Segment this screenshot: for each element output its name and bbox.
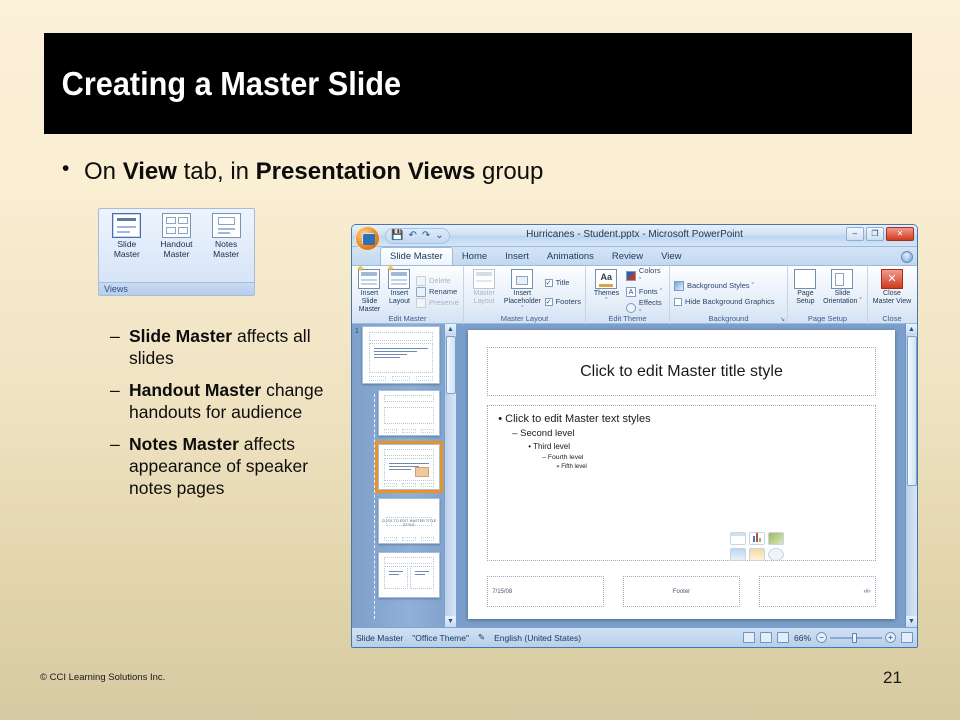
slide-number: 21: [883, 668, 902, 688]
themes-icon: Aa: [595, 269, 617, 289]
ribbon-group-background: Background Styles ˇ Hide Background Grap…: [670, 266, 788, 324]
content-placeholder-icons[interactable]: [730, 532, 784, 561]
thumbnail-scroll-thumb[interactable]: [446, 336, 456, 394]
rename-label: Rename: [429, 287, 457, 297]
slide-title-band: Creating a Master Slide: [44, 33, 912, 134]
stage-scroll-thumb[interactable]: [907, 336, 917, 486]
thumb-footer-right: [421, 537, 434, 541]
master-slide-number: 1: [355, 328, 359, 335]
close-master-view-icon: ✕: [881, 269, 903, 289]
preserve-master-button[interactable]: Preserve: [416, 298, 459, 308]
page-setup-label-1: Page: [792, 290, 819, 298]
insert-clipart-icon[interactable]: [749, 548, 765, 561]
views-ribbon-group-image: Slide Master Handout Master Notes Master…: [98, 208, 255, 296]
delete-icon: [416, 276, 426, 286]
page-setup-group-title: Page Setup: [788, 314, 867, 324]
fonts-label: Fonts ˇ: [639, 287, 662, 297]
zoom-slider[interactable]: − +: [816, 632, 896, 643]
hide-background-graphics-label: Hide Background Graphics: [685, 297, 775, 307]
notes-master-icon: [212, 213, 241, 238]
preserve-icon: [416, 298, 426, 308]
title-checkbox-row[interactable]: ✓ Title: [545, 278, 581, 288]
thumb-body-ph: [369, 343, 433, 373]
sub-bullet-handout-master: – Handout Master change handouts for aud…: [110, 379, 348, 423]
window-title-bar: 💾 ↶ ↷ ⌄ Hurricanes - Student.pptx - Micr…: [352, 225, 917, 247]
thumb-footer-left: [384, 537, 397, 541]
footers-checkbox[interactable]: ✓: [545, 298, 553, 306]
close-button[interactable]: ✕: [886, 227, 914, 241]
master-layout-checkboxes: ✓ Title ✓ Footers: [545, 268, 581, 314]
ribbon: ✦ Insert Slide Master ✦ Insert Layout: [352, 266, 917, 324]
stage-scroll-up-icon[interactable]: ▲: [906, 324, 917, 335]
slide-orientation-icon: [831, 269, 853, 289]
ribbon-group-close: ✕ Close Master View Close: [868, 266, 916, 324]
master-slide-canvas[interactable]: Click to edit Master title style • Click…: [468, 330, 895, 619]
hide-background-graphics-checkbox[interactable]: [674, 298, 682, 306]
slide-editing-stage[interactable]: Click to edit Master title style • Click…: [456, 324, 917, 627]
status-language[interactable]: English (United States): [494, 633, 581, 643]
zoom-track[interactable]: [830, 637, 882, 639]
title-checkbox-label: Title: [556, 278, 570, 288]
date-placeholder[interactable]: 7/15/08: [487, 576, 604, 608]
slide-thumbnail-pane[interactable]: 1: [352, 324, 456, 627]
thumb-body-ph-right: [410, 566, 434, 589]
master-layout-group-title: Master Layout: [464, 314, 585, 324]
thumb-body-ph: [384, 407, 434, 424]
handout-master-icon: [162, 213, 191, 238]
close-master-view-label-2: Master View: [872, 298, 912, 306]
handout-master-label-2: Master: [152, 250, 200, 260]
tab-animations[interactable]: Animations: [538, 248, 603, 265]
sub-bullet-text: Notes Master affects appearance of speak…: [129, 433, 348, 499]
delete-master-button[interactable]: Delete: [416, 276, 459, 286]
thumbnail-layout-title[interactable]: [378, 390, 440, 436]
themes-label: Themes: [590, 290, 623, 298]
effects-icon: [626, 303, 636, 313]
thumbnail-scroll-down-icon[interactable]: ▼: [445, 616, 456, 627]
thumb-footer-mid: [402, 483, 416, 487]
insert-chart-icon[interactable]: [749, 532, 765, 545]
master-layout-icon: [473, 269, 495, 289]
insert-slide-master-button[interactable]: ✦ Insert Slide Master: [356, 268, 383, 314]
new-star-icon: ✦: [385, 265, 395, 275]
thumb-title-ph: [384, 557, 434, 564]
tab-home[interactable]: Home: [453, 248, 496, 265]
insert-table-icon[interactable]: [730, 532, 746, 545]
thumbnail-layout-two-content[interactable]: [378, 552, 440, 598]
dash-icon: –: [110, 325, 129, 347]
insert-layout-label-1: Insert: [386, 290, 413, 298]
master-level-1: • Click to edit Master text styles: [498, 413, 867, 425]
insert-layout-label-2: Layout: [386, 298, 413, 306]
thumb-footer-left: [369, 376, 386, 381]
slideshow-view-icon[interactable]: [777, 632, 789, 643]
insert-smartart-icon[interactable]: [768, 532, 784, 545]
master-body-placeholder[interactable]: • Click to edit Master text styles – Sec…: [487, 405, 876, 561]
insert-slide-master-icon: ✦: [358, 269, 380, 289]
fonts-icon: A: [626, 287, 636, 297]
footers-checkbox-row[interactable]: ✓ Footers: [545, 297, 581, 307]
zoom-in-icon[interactable]: +: [885, 632, 896, 643]
thumb-footer-mid: [402, 429, 416, 433]
ribbon-group-master-layout: Master Layout Insert Placeholder ˇ ✓ Tit…: [464, 266, 586, 324]
delete-label: Delete: [429, 276, 451, 286]
slide-credit: © CCI Learning Solutions Inc.: [40, 672, 165, 683]
sub-bullet-text: Slide Master affects all slides: [129, 325, 348, 369]
hide-background-graphics-row[interactable]: Hide Background Graphics: [674, 297, 775, 307]
zoom-out-icon[interactable]: −: [816, 632, 827, 643]
master-layout-button[interactable]: Master Layout: [468, 268, 500, 314]
close-master-view-button[interactable]: ✕ Close Master View: [872, 268, 912, 314]
thumb-lines: [374, 348, 428, 360]
rename-master-button[interactable]: Rename: [416, 287, 459, 297]
background-group-title: Background: [670, 314, 787, 324]
background-styles-button[interactable]: Background Styles ˇ: [674, 281, 775, 291]
background-styles-icon: [674, 281, 684, 291]
thumb-footer-left: [384, 483, 397, 487]
thumbnail-layout-content-selected[interactable]: [378, 444, 440, 490]
tab-review[interactable]: Review: [603, 248, 652, 265]
insert-placeholder-icon: [511, 269, 533, 289]
insert-placeholder-label-2: Placeholder ˇ: [503, 298, 541, 314]
thumb-lines: [389, 571, 403, 577]
slide-orientation-label-2: Orientation ˇ: [822, 298, 863, 306]
thumbnail-scrollbar[interactable]: ▲ ▼: [444, 324, 456, 627]
thumb-title-ph: [384, 395, 434, 402]
insert-slide-master-label-1: Insert Slide: [356, 290, 383, 306]
sub-bullet-text: Handout Master change handouts for audie…: [129, 379, 348, 423]
main-bullet-text: On View tab, in Presentation Views group: [84, 158, 543, 187]
notes-master-button[interactable]: Notes Master: [202, 213, 250, 259]
thumb-lines: [415, 571, 429, 577]
master-level-2: – Second level: [512, 428, 867, 439]
views-group-label: Views: [99, 282, 254, 295]
views-buttons: Slide Master Handout Master Notes Master: [99, 209, 254, 259]
thumb-title-ph: [369, 332, 433, 341]
thumb-footer-mid: [392, 376, 410, 381]
thumbnail-section-caption: CLICK TO EDIT MASTER TITLE STYLE: [379, 519, 439, 527]
slide-sorter-view-icon[interactable]: [760, 632, 772, 643]
help-icon[interactable]: ?: [901, 251, 913, 263]
footers-checkbox-label: Footers: [556, 297, 581, 307]
background-buttons: Background Styles ˇ Hide Background Grap…: [674, 268, 775, 314]
master-footer-row: 7/15/08 Footer ‹#›: [487, 576, 876, 608]
notes-master-label-2: Master: [202, 250, 250, 260]
edit-master-small-buttons: Delete Rename Preserve: [416, 268, 459, 314]
window-controls: – ❐ ✕: [846, 227, 914, 241]
thumbnail-master[interactable]: [362, 326, 440, 384]
thumb-footer-right: [421, 483, 434, 487]
insert-placeholder-button[interactable]: Insert Placeholder ˇ: [503, 268, 541, 314]
theme-colors-button[interactable]: Colors ˇ: [626, 266, 665, 286]
page-title: Creating a Master Slide: [44, 65, 401, 103]
status-bar: Slide Master "Office Theme" ✎ English (U…: [352, 627, 917, 647]
dash-icon: –: [110, 379, 129, 401]
fit-to-window-icon[interactable]: [901, 632, 913, 643]
zoom-level: 66%: [794, 633, 811, 643]
document-area: 1: [352, 324, 917, 627]
sub-bullet-slide-master: – Slide Master affects all slides: [110, 325, 348, 369]
spellcheck-icon[interactable]: ✎: [478, 632, 485, 643]
insert-picture-icon[interactable]: [730, 548, 746, 561]
minimize-button[interactable]: –: [846, 227, 864, 241]
insert-placeholder-label-1: Insert: [503, 290, 541, 298]
page-setup-button[interactable]: Page Setup: [792, 268, 819, 314]
theme-fonts-button[interactable]: A Fonts ˇ: [626, 287, 665, 297]
main-bullet: • On View tab, in Presentation Views gro…: [62, 158, 682, 187]
insert-layout-icon: ✦: [388, 269, 410, 289]
thumbnail-layout-section-header[interactable]: CLICK TO EDIT MASTER TITLE STYLE: [378, 498, 440, 544]
slide-master-label-2: Master: [103, 250, 151, 260]
new-star-icon: ✦: [355, 265, 365, 275]
thumb-body-ph: [384, 458, 434, 481]
master-layout-label-1: Master: [468, 290, 500, 298]
slide-orientation-label-1: Slide: [822, 290, 863, 298]
page-setup-label-2: Setup: [792, 298, 819, 306]
rename-icon: [416, 287, 426, 297]
master-level-5: » Fifth level: [556, 464, 867, 470]
status-theme: "Office Theme": [412, 633, 469, 643]
thumbnail-scroll-up-icon[interactable]: ▲: [445, 324, 456, 335]
thumb-footer-mid: [402, 537, 416, 541]
close-master-view-label-1: Close: [872, 290, 912, 298]
status-view-name: Slide Master: [356, 633, 403, 643]
ribbon-group-edit-theme: Aa Themes ˇ Colors ˇ A Fonts ˇ: [586, 266, 670, 324]
zoom-handle[interactable]: [852, 633, 857, 643]
powerpoint-window-image: 💾 ↶ ↷ ⌄ Hurricanes - Student.pptx - Micr…: [351, 224, 918, 648]
background-styles-label: Background Styles ˇ: [687, 281, 754, 291]
tab-view[interactable]: View: [652, 248, 690, 265]
master-layout-label-2: Layout: [468, 298, 500, 306]
ribbon-tab-strip: Slide Master Home Insert Animations Revi…: [352, 247, 917, 266]
sub-bullet-notes-master: – Notes Master affects appearance of spe…: [110, 433, 348, 499]
insert-media-icon[interactable]: [768, 548, 784, 561]
background-dialog-launcher-icon[interactable]: ↘: [780, 316, 785, 323]
insert-slide-master-label-2: Master: [356, 306, 383, 314]
master-level-3: • Third level: [528, 442, 867, 451]
thumb-footer-right: [421, 429, 434, 433]
footer-placeholder[interactable]: Footer: [623, 576, 740, 608]
themes-button[interactable]: Aa Themes ˇ: [590, 268, 623, 314]
stage-scroll-down-icon[interactable]: ▼: [906, 616, 917, 627]
thumb-body-ph-left: [384, 566, 408, 589]
normal-view-icon[interactable]: [743, 632, 755, 643]
status-right-cluster: 66% − +: [743, 632, 913, 643]
restore-button[interactable]: ❐: [866, 227, 884, 241]
insert-layout-button[interactable]: ✦ Insert Layout: [386, 268, 413, 314]
thumb-footer-right: [416, 376, 433, 381]
edit-theme-group-title: Edit Theme: [586, 314, 669, 324]
master-layout-connector: [374, 394, 375, 619]
thumb-footer-left: [384, 429, 397, 433]
title-checkbox[interactable]: ✓: [545, 279, 553, 287]
colors-icon: [626, 271, 636, 281]
preserve-label: Preserve: [429, 298, 459, 308]
slide-master-button[interactable]: Slide Master: [103, 213, 151, 259]
thumb-title-ph: [384, 449, 434, 456]
stage-scrollbar[interactable]: ▲ ▼: [905, 324, 917, 627]
ribbon-group-edit-master: ✦ Insert Slide Master ✦ Insert Layout: [352, 266, 464, 324]
bullet-dot-icon: •: [62, 158, 84, 180]
master-level-4: – Fourth level: [542, 454, 867, 461]
ribbon-group-page-setup: Page Setup Slide Orientation ˇ Page Setu…: [788, 266, 868, 324]
colors-label: Colors ˇ: [639, 266, 665, 286]
edit-master-group-title: Edit Master: [352, 314, 463, 324]
sub-bullet-list: – Slide Master affects all slides – Hand…: [110, 325, 348, 509]
tab-insert[interactable]: Insert: [496, 248, 538, 265]
edit-theme-small-buttons: Colors ˇ A Fonts ˇ Effects ˇ: [626, 268, 665, 314]
handout-master-button[interactable]: Handout Master: [152, 213, 200, 259]
master-title-placeholder[interactable]: Click to edit Master title style: [487, 347, 876, 396]
slide-master-icon: [112, 213, 141, 238]
dash-icon: –: [110, 433, 129, 455]
close-group-title: Close: [868, 314, 916, 324]
slide-orientation-button[interactable]: Slide Orientation ˇ: [822, 268, 863, 314]
window-title: Hurricanes - Student.pptx - Microsoft Po…: [352, 229, 917, 240]
slide-number-placeholder[interactable]: ‹#›: [759, 576, 876, 608]
themes-dropdown-caret[interactable]: ˇ: [590, 298, 623, 306]
page-setup-icon: [794, 269, 816, 289]
